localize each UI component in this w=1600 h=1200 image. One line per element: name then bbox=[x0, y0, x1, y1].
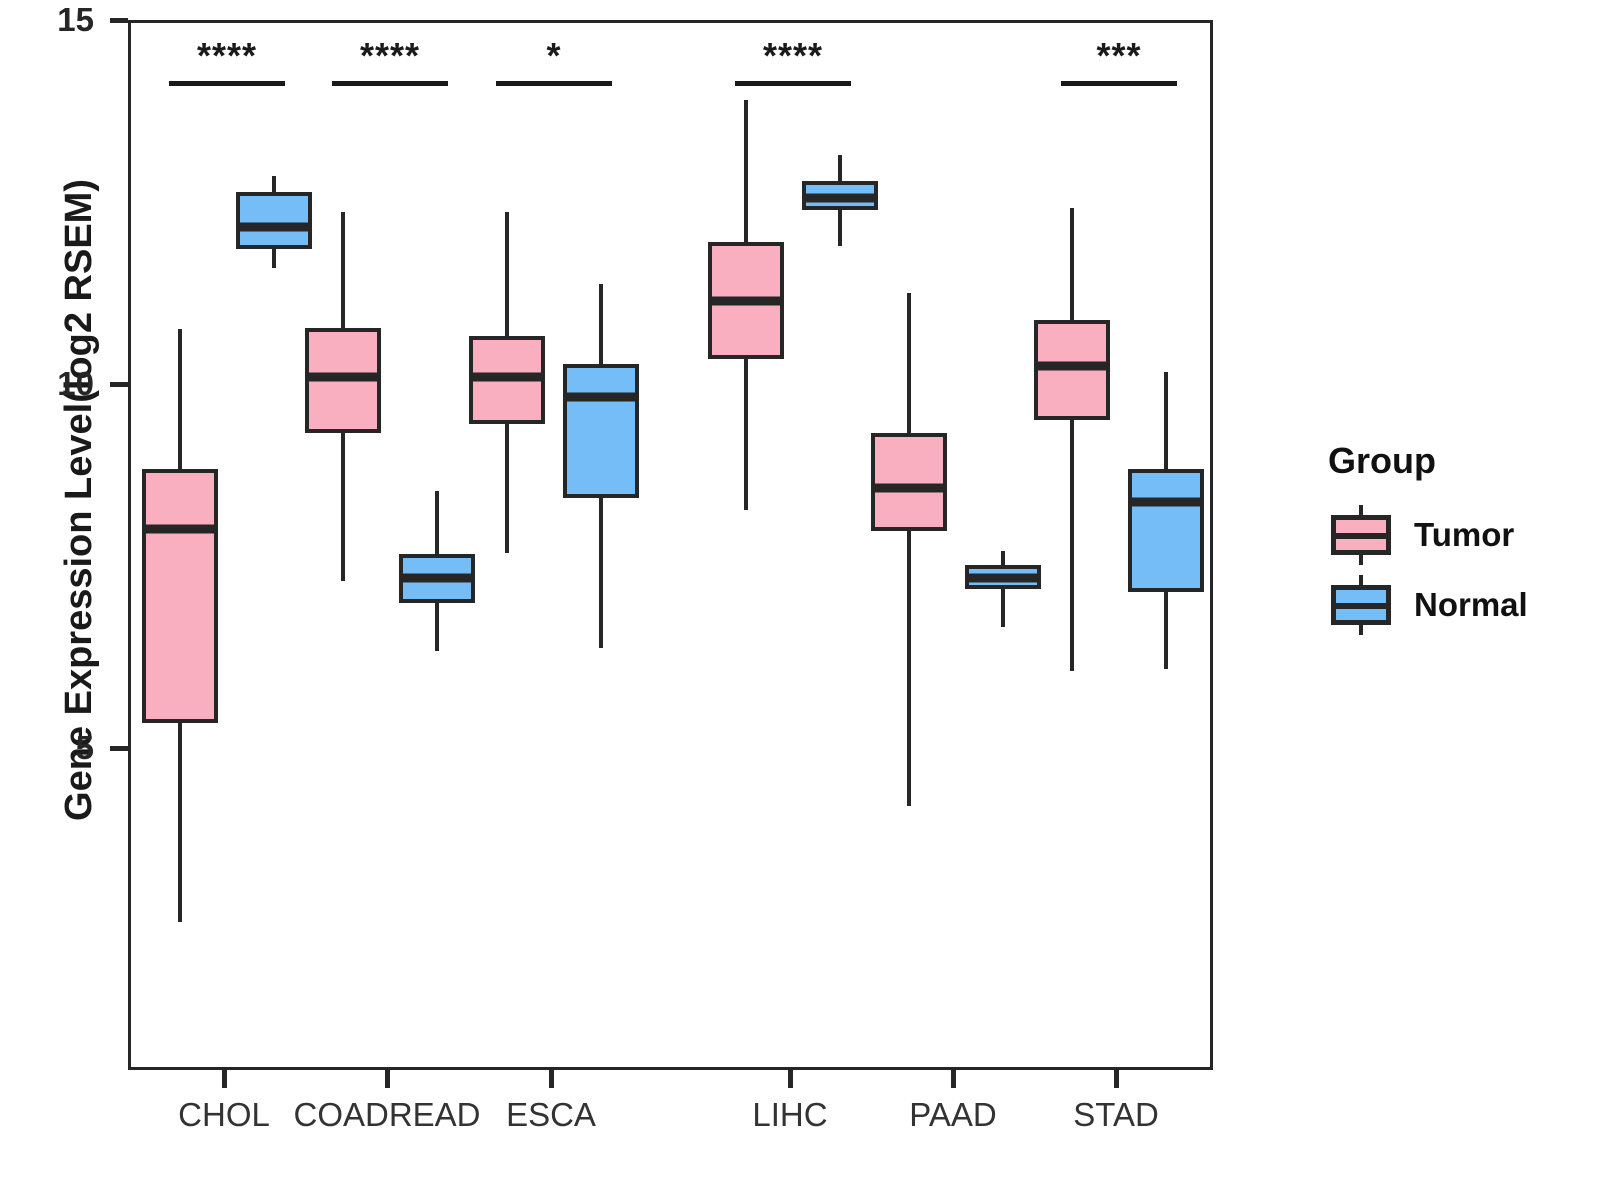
x-tick-label-esca: ESCA bbox=[506, 1096, 596, 1134]
y-axis-title: Gene Expression Level(log2 RSEM) bbox=[58, 50, 101, 950]
boxplot-figure: Gene Expression Level(log2 RSEM) 51015 *… bbox=[0, 0, 1600, 1200]
y-tick-mark bbox=[110, 746, 128, 751]
significance-bracket bbox=[332, 81, 448, 86]
x-tick-label-stad: STAD bbox=[1073, 1096, 1159, 1134]
y-tick-mark bbox=[110, 382, 128, 387]
legend-key-tumor-icon bbox=[1328, 505, 1394, 565]
x-tick-label-lihc: LIHC bbox=[752, 1096, 827, 1134]
significance-bracket bbox=[496, 81, 612, 86]
x-tick-label-chol: CHOL bbox=[178, 1096, 270, 1134]
significance-label: **** bbox=[360, 35, 420, 77]
box-iqr bbox=[1128, 469, 1204, 592]
legend-items: TumorNormal bbox=[1328, 504, 1588, 636]
significance-label: **** bbox=[763, 35, 823, 77]
significance-bracket bbox=[1061, 81, 1177, 86]
y-tick-label: 10 bbox=[0, 365, 94, 403]
y-tick-mark bbox=[110, 18, 128, 23]
y-tick-label: 5 bbox=[0, 729, 94, 767]
x-tick-label-paad: PAAD bbox=[909, 1096, 996, 1134]
legend-label: Normal bbox=[1414, 586, 1528, 624]
x-tick-mark bbox=[951, 1070, 956, 1088]
significance-label: *** bbox=[1096, 35, 1141, 77]
legend-item-tumor[interactable]: Tumor bbox=[1328, 504, 1588, 566]
x-tick-mark bbox=[222, 1070, 227, 1088]
legend: Group TumorNormal bbox=[1328, 440, 1588, 644]
legend-label: Tumor bbox=[1414, 516, 1514, 554]
x-tick-mark bbox=[549, 1070, 554, 1088]
legend-item-normal[interactable]: Normal bbox=[1328, 574, 1588, 636]
whisker-lower bbox=[1164, 592, 1168, 669]
significance-label: **** bbox=[197, 35, 257, 77]
x-tick-mark bbox=[385, 1070, 390, 1088]
box-stad-normal bbox=[131, 23, 1210, 1067]
x-tick-mark bbox=[788, 1070, 793, 1088]
x-tick-mark bbox=[1114, 1070, 1119, 1088]
significance-bracket bbox=[169, 81, 285, 86]
whisker-upper bbox=[1164, 372, 1168, 469]
significance-bracket bbox=[735, 81, 851, 86]
x-tick-label-coadread: COADREAD bbox=[293, 1096, 480, 1134]
y-tick-label: 15 bbox=[0, 1, 94, 39]
median-line bbox=[1128, 498, 1204, 507]
plot-panel: **************** bbox=[128, 20, 1213, 1070]
legend-title: Group bbox=[1328, 440, 1588, 482]
legend-key-normal-icon bbox=[1328, 575, 1394, 635]
significance-label: * bbox=[546, 35, 561, 77]
